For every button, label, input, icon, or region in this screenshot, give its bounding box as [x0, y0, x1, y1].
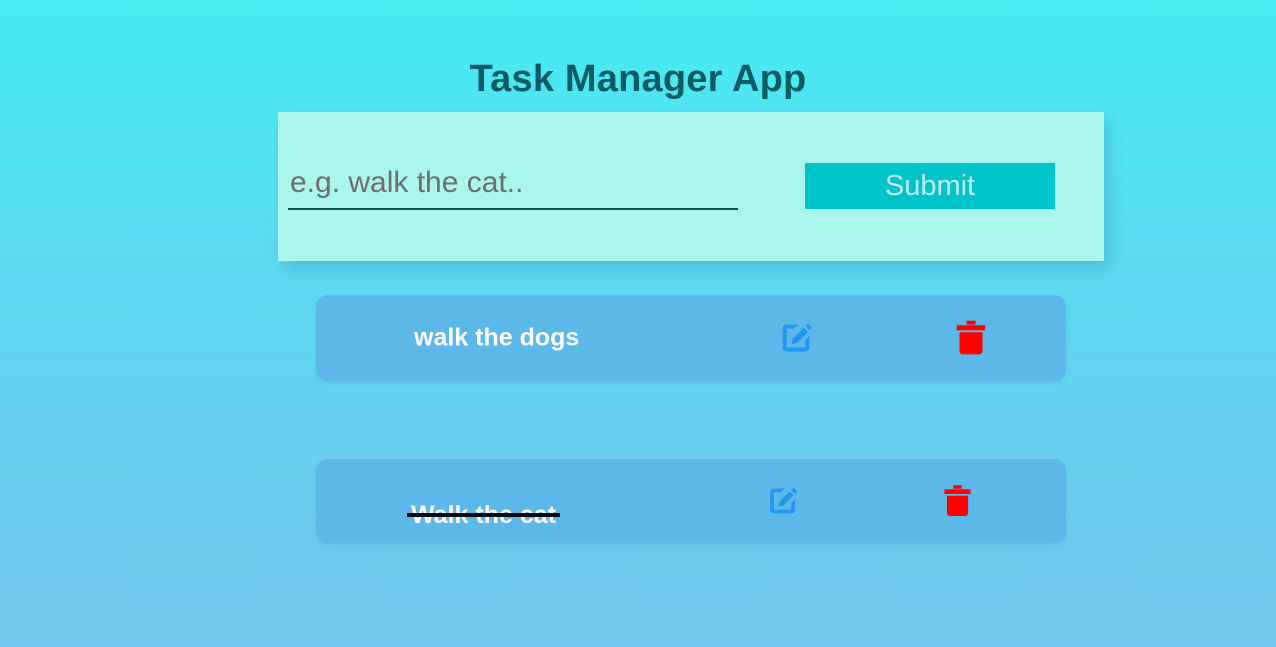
task-label: Walk the cat	[411, 501, 556, 529]
trash-icon	[953, 318, 989, 358]
add-task-form-card: Submit	[278, 112, 1104, 261]
task-row[interactable]: walk the dogs	[316, 295, 1066, 381]
add-task-form: Submit	[278, 112, 1104, 261]
edit-pencil-square-icon	[764, 483, 801, 520]
edit-pencil-square-icon	[776, 318, 816, 358]
delete-task-button[interactable]	[941, 483, 974, 520]
trash-icon	[941, 483, 974, 520]
delete-task-button[interactable]	[953, 318, 989, 358]
submit-button[interactable]: Submit	[805, 163, 1055, 209]
task-label: walk the dogs	[414, 324, 579, 353]
task-manager-app: Task Manager App Submit walk the dogs Wa…	[0, 0, 1276, 647]
task-input[interactable]	[288, 162, 738, 210]
edit-task-button[interactable]	[764, 483, 801, 520]
edit-task-button[interactable]	[776, 318, 816, 358]
task-row[interactable]: Walk the cat	[316, 459, 1066, 543]
page-title: Task Manager App	[0, 55, 1276, 103]
